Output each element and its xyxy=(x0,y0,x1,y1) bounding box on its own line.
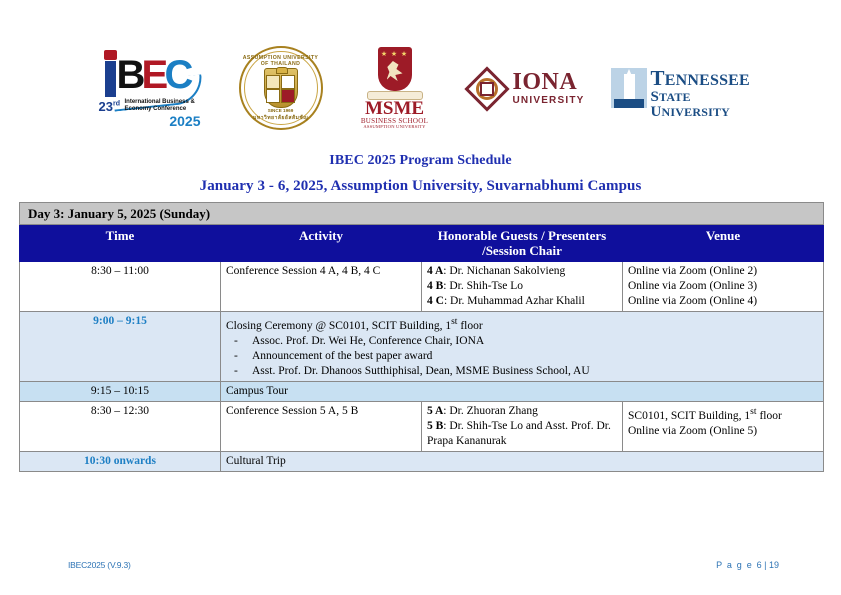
guest-entry: 5 A: Dr. Zhuoran Zhang xyxy=(427,404,617,419)
ibec-letter-i-dot xyxy=(104,50,117,60)
ibec-edition-number: 23rd xyxy=(99,99,120,114)
row-time: 8:30 – 12:30 xyxy=(20,401,221,451)
au-seal-crest-icon xyxy=(264,68,298,108)
tsu-sub-initial-1: S xyxy=(651,89,660,105)
row-time: 9:15 – 10:15 xyxy=(20,381,221,401)
day-label-bold: Day 3 xyxy=(28,206,60,221)
venue-line: Online via Zoom (Online 2) xyxy=(628,264,818,279)
row-activity: Closing Ceremony @ SC0101, SCIT Building… xyxy=(221,312,824,382)
sponsor-logo-band: B E C 23rd International Business & Econ… xyxy=(0,42,841,134)
activity-bullet: Assoc. Prof. Dr. Wei He, Conference Chai… xyxy=(226,334,818,349)
activity-heading-a: Closing Ceremony @ SC0101, SCIT Building… xyxy=(226,320,451,332)
schedule-table-wrapper: Day 3: January 5, 2025 (Sunday) Time Act… xyxy=(19,202,824,472)
page-title: IBEC 2025 Program Schedule xyxy=(0,153,841,169)
column-header-activity: Activity xyxy=(221,225,422,262)
guest-text: : Dr. Shih-Tse Lo and Asst. Prof. Dr. Pr… xyxy=(427,420,611,447)
footer-page-word: P a g e xyxy=(716,560,756,570)
table-row: 9:00 – 9:15 Closing Ceremony @ SC0101, S… xyxy=(20,312,824,382)
tsu-sub-rest-2: NIVERSITY xyxy=(662,105,731,119)
assumption-university-seal: ASSUMPTION UNIVERSITY OF THAILAND SINCE … xyxy=(239,46,323,130)
row-activity: Conference Session 5 A, 5 B xyxy=(221,401,422,451)
au-crest-quarter-1 xyxy=(266,75,280,89)
day-label-rest: : January 5, 2025 (Sunday) xyxy=(60,206,210,221)
guest-text: : Dr. Shih-Tse Lo xyxy=(443,280,523,292)
msme-title: MSME xyxy=(357,99,433,119)
msme-affiliation: ASSUMPTION UNIVERSITY xyxy=(357,124,433,129)
row-time: 8:30 – 11:00 xyxy=(20,262,221,312)
ibec-subtitle-line2: Economy Conference xyxy=(125,106,201,113)
day-header-row: Day 3: January 5, 2025 (Sunday) xyxy=(20,203,824,225)
tsu-tower-icon xyxy=(611,68,647,108)
guest-text: : Dr. Muhammad Azhar Khalil xyxy=(444,295,585,307)
guest-tag: 5 B xyxy=(427,420,443,432)
ibec-edition-suffix: rd xyxy=(113,101,120,108)
row-activity: Campus Tour xyxy=(221,381,824,401)
table-row: 10:30 onwards Cultural Trip xyxy=(20,451,824,471)
tennessee-state-university-logo: TENNESSEE STATE UNIVERSITY xyxy=(611,65,747,111)
iona-subtitle: UNIVERSITY xyxy=(513,95,585,106)
iona-university-logo: IONA UNIVERSITY xyxy=(467,64,577,112)
guest-tag: 5 A xyxy=(427,405,443,417)
row-venue: SC0101, SCIT Building, 1st floor Online … xyxy=(623,401,824,451)
column-header-venue: Venue xyxy=(623,225,824,262)
guest-entry: 4 A: Dr. Nichanan Sakolvieng xyxy=(427,264,617,279)
guest-tag: 4 A xyxy=(427,265,443,277)
column-header-guests-part1: Honorable Guests xyxy=(438,228,538,243)
table-row: 9:15 – 10:15 Campus Tour xyxy=(20,381,824,401)
page-footer: IBEC2025 (V.9.3) P a g e 6 | 19 xyxy=(0,560,841,580)
msme-stars-icon: ★ ★ ★ xyxy=(378,50,412,58)
au-seal-arc-bottom-text: มหาวิทยาลัยอัสสัมชัญ xyxy=(239,114,323,122)
row-venue: Online via Zoom (Online 2) Online via Zo… xyxy=(623,262,824,312)
ibec-year: 2025 xyxy=(169,113,200,129)
column-header-guests-part2: Presenters xyxy=(548,228,606,243)
iona-celtic-knot-icon xyxy=(467,69,507,109)
guest-tag: 4 C xyxy=(427,295,444,307)
tsu-sub-rest-1: TATE xyxy=(659,90,691,104)
table-row: 8:30 – 12:30 Conference Session 5 A, 5 B… xyxy=(20,401,824,451)
iona-knot-box xyxy=(480,82,494,96)
au-seal-since-text: SINCE 1969 xyxy=(239,108,323,113)
guest-tag: 4 B xyxy=(427,280,443,292)
au-crest-quarter-3 xyxy=(266,89,280,103)
venue-line-a: SC0101, SCIT Building, 1 xyxy=(628,410,750,422)
ibec-subtitle: International Business & Economy Confere… xyxy=(125,99,201,113)
guest-text: : Dr. Zhuoran Zhang xyxy=(443,405,538,417)
footer-page-total: 19 xyxy=(769,560,779,570)
column-header-time: Time xyxy=(20,225,221,262)
schedule-table: Day 3: January 5, 2025 (Sunday) Time Act… xyxy=(19,202,824,472)
au-crest-quarter-4 xyxy=(281,89,295,103)
activity-heading: Closing Ceremony @ SC0101, SCIT Building… xyxy=(226,314,818,334)
tsu-title: TENNESSEE xyxy=(651,68,750,91)
tsu-base-shape xyxy=(614,99,644,108)
ibec-logo: B E C 23rd International Business & Econ… xyxy=(95,49,205,127)
row-guests: 5 A: Dr. Zhuoran Zhang 5 B: Dr. Shih-Tse… xyxy=(422,401,623,451)
column-header-guests-part3: Session Chair xyxy=(486,243,562,258)
tsu-title-rest: ENNESSEE xyxy=(665,72,750,89)
footer-page-separator: | xyxy=(762,560,769,570)
ibec-subtitle-line1: International Business & xyxy=(125,99,201,106)
au-seal-crown-icon xyxy=(276,67,288,74)
iona-title: IONA xyxy=(513,70,578,94)
venue-line: Online via Zoom (Online 4) xyxy=(628,294,818,309)
au-crest-quarter-2 xyxy=(281,75,295,89)
guest-entry: 5 B: Dr. Shih-Tse Lo and Asst. Prof. Dr.… xyxy=(427,419,617,449)
guest-text: : Dr. Nichanan Sakolvieng xyxy=(443,265,565,277)
activity-heading-b: floor xyxy=(457,320,482,332)
row-activity: Cultural Trip xyxy=(221,451,824,471)
column-header-guests: Honorable Guests / Presenters /Session C… xyxy=(422,225,623,262)
ibec-logo-mark: B E C xyxy=(95,49,205,99)
activity-bullet: Announcement of the best paper award xyxy=(226,349,818,364)
page-subtitle: January 3 - 6, 2025, Assumption Universi… xyxy=(0,178,841,195)
guest-entry: 4 B: Dr. Shih-Tse Lo xyxy=(427,279,617,294)
activity-bullet: Asst. Prof. Dr. Dhanoos Sutthiphisal, De… xyxy=(226,364,818,379)
tsu-subtitle: STATE UNIVERSITY xyxy=(651,90,747,120)
row-time: 9:00 – 9:15 xyxy=(20,312,221,382)
au-seal-arc-top-text: ASSUMPTION UNIVERSITY OF THAILAND xyxy=(239,55,323,67)
row-time: 10:30 onwards xyxy=(20,451,221,471)
venue-line-b: floor xyxy=(757,410,782,422)
row-guests: 4 A: Dr. Nichanan Sakolvieng 4 B: Dr. Sh… xyxy=(422,262,623,312)
row-activity: Conference Session 4 A, 4 B, 4 C xyxy=(221,262,422,312)
column-header-row: Time Activity Honorable Guests / Present… xyxy=(20,225,824,262)
footer-document-version: IBEC2025 (V.9.3) xyxy=(68,560,131,570)
tsu-title-initial: T xyxy=(651,66,665,90)
venue-line: Online via Zoom (Online 5) xyxy=(628,424,818,439)
msme-business-school-logo: ★ ★ ★ MSME BUSINESS SCHOOL ASSUMPTION UN… xyxy=(357,47,433,129)
tsu-sub-initial-2: U xyxy=(651,104,662,120)
ibec-edition-value: 23 xyxy=(99,99,113,114)
day-header-cell: Day 3: January 5, 2025 (Sunday) xyxy=(20,203,824,225)
venue-line: SC0101, SCIT Building, 1st floor xyxy=(628,404,818,424)
table-row: 8:30 – 11:00 Conference Session 4 A, 4 B… xyxy=(20,262,824,312)
column-header-guests-sep1: / xyxy=(538,228,548,243)
guest-entry: 4 C: Dr. Muhammad Azhar Khalil xyxy=(427,294,617,309)
footer-page-indicator: P a g e 6 | 19 xyxy=(716,560,779,570)
venue-line: Online via Zoom (Online 3) xyxy=(628,279,818,294)
